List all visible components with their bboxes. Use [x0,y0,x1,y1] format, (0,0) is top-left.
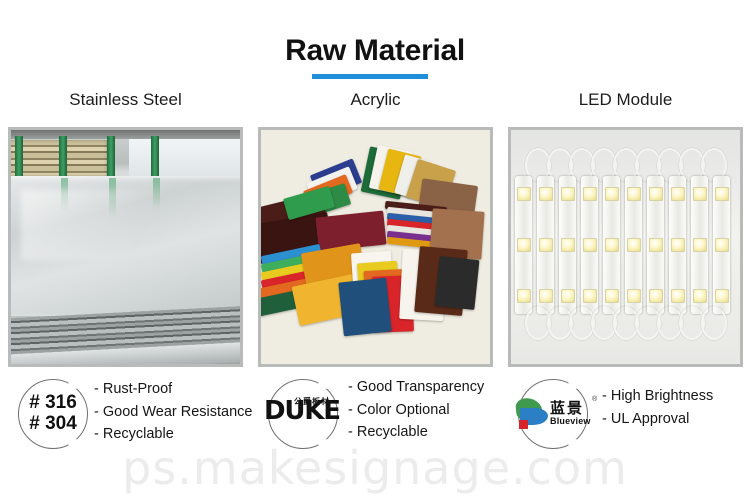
led-module [691,176,708,314]
led-module [603,176,620,314]
led-modules-scene [511,130,740,364]
led-module [537,176,554,314]
feature-block-led-module: 蓝景 Blueview ® - High Brightness - UL App… [510,376,750,456]
feature-item: - Recyclable [348,421,484,444]
title-underline-accent [312,74,428,79]
feature-item: - High Brightness [602,385,713,408]
blueview-red-square-icon [519,420,528,429]
window-pane [175,139,220,176]
led-module [559,176,576,314]
led-chip [649,238,663,252]
acrylic-sample [434,256,479,310]
feature-item: - Rust-Proof [94,378,253,401]
column-header-stainless-steel: Stainless Steel [8,90,243,110]
led-chip [715,238,729,252]
green-pillar [151,136,159,180]
led-chip [671,187,685,201]
green-pillar [15,136,23,180]
feature-item: - Good Wear Resistance [94,401,253,424]
acrylic-sample [338,278,391,337]
led-chip [539,187,553,201]
stainless-steel-scene [11,130,240,364]
product-photo-led-module [508,127,743,367]
product-photo-acrylic [258,127,493,367]
led-chip [627,238,641,252]
led-module [581,176,598,314]
feature-block-acrylic: DUKE 公爵板材 - Good Transparency - Color Op… [260,376,500,456]
led-module [669,176,686,314]
feature-item: - Color Optional [348,399,484,422]
led-chip [605,187,619,201]
blueview-english-name: Blueview [550,416,591,426]
led-wire [701,306,727,340]
led-chip [693,187,707,201]
blueview-logo: 蓝景 Blueview ® [516,396,604,436]
led-chip [671,238,685,252]
acrylic-samples-scene [261,130,490,364]
window-pane [219,139,243,176]
led-module [647,176,664,314]
duke-chinese-name: 公爵板材 [294,396,330,407]
led-chip [583,238,597,252]
led-chip [649,187,663,201]
feature-list-led-module: - High Brightness - UL Approval [602,385,713,430]
led-chip [583,289,597,303]
ceiling-beam [11,130,240,139]
blueview-chinese-name: 蓝景 [550,397,584,418]
led-chip [715,187,729,201]
duke-logo: DUKE 公爵板材 [264,398,350,432]
grade-badge: # 316 # 304 [18,379,88,449]
feature-block-stainless-steel: # 316 # 304 - Rust-Proof - Good Wear Res… [10,376,250,456]
led-chip [649,289,663,303]
product-photo-stainless-steel [8,127,243,367]
led-chip [517,238,531,252]
page-title: Raw Material [0,34,750,68]
led-chip [539,238,553,252]
green-pillar [107,136,115,180]
led-chip [627,187,641,201]
steel-grade-304: # 304 [29,414,77,435]
feature-list-acrylic: - Good Transparency - Color Optional - R… [348,376,484,444]
feature-item: - Good Transparency [348,376,484,399]
led-chip [605,238,619,252]
led-module [625,176,642,314]
green-pillar [59,136,67,180]
registered-trademark-symbol: ® [592,396,597,403]
surface-highlight [21,190,231,260]
led-chip [517,289,531,303]
feature-list-stainless-steel: - Rust-Proof - Good Wear Resistance - Re… [94,378,253,446]
led-chip [583,187,597,201]
led-chip [539,289,553,303]
led-chip [693,238,707,252]
led-chip [693,289,707,303]
led-chip [605,289,619,303]
feature-item: - UL Approval [602,408,713,431]
led-chip [715,289,729,303]
steel-grade-316: # 316 [29,393,77,414]
led-chip [671,289,685,303]
feature-item: - Recyclable [94,423,253,446]
led-module [713,176,730,314]
led-chip [561,187,575,201]
led-chip [561,289,575,303]
led-module [515,176,532,314]
led-chip [627,289,641,303]
column-header-acrylic: Acrylic [258,90,493,110]
material-rack [65,140,107,176]
column-header-led-module: LED Module [508,90,743,110]
led-chip [561,238,575,252]
led-chip [517,187,531,201]
